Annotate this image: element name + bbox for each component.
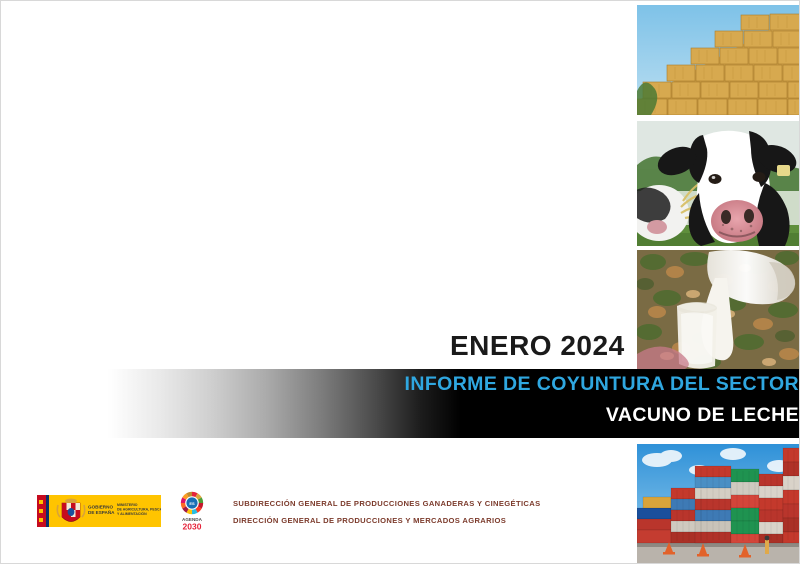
milk-pouring-photo <box>637 250 800 369</box>
report-title-line-1: INFORME DE COYUNTURA DEL SECTOR <box>405 375 799 395</box>
svg-text:MINISTERIO: MINISTERIO <box>117 503 138 507</box>
title-band: INFORME DE COYUNTURA DEL SECTOR VACUNO D… <box>1 369 800 438</box>
document-cover-page: ENERO 2024 INFORME DE COYUNTURA DEL SECT… <box>0 0 800 564</box>
gobierno-de-espana-logo: GOBIERNO DE ESPAÑA MINISTERIO DE AGRICUL… <box>37 495 161 527</box>
report-title-line-2: VACUNO DE LECHE <box>606 406 799 426</box>
svg-text:2030: 2030 <box>183 522 202 532</box>
dairy-cow-photo <box>637 121 800 246</box>
svg-text:GOBIERNO: GOBIERNO <box>88 505 113 510</box>
svg-text:DE AGRICULTURA, PESCA: DE AGRICULTURA, PESCA <box>117 508 161 512</box>
organization-line-1: SUBDIRECCIÓN GENERAL DE PRODUCCIONES GAN… <box>233 500 613 508</box>
svg-text:DE ESPAÑA: DE ESPAÑA <box>88 509 115 515</box>
organization-lines: SUBDIRECCIÓN GENERAL DE PRODUCCIONES GAN… <box>233 500 613 533</box>
organization-line-2: DIRECCIÓN GENERAL DE PRODUCCIONES Y MERC… <box>233 517 613 525</box>
svg-text:ES: ES <box>189 501 195 506</box>
svg-text:Y ALIMENTACIÓN: Y ALIMENTACIÓN <box>117 511 147 516</box>
band-gradient-fade <box>1 369 461 438</box>
agenda-2030-logo: ES AGENDA 2030 <box>173 489 211 533</box>
footer: GOBIERNO DE ESPAÑA MINISTERIO DE AGRICUL… <box>1 471 800 564</box>
issue-date: ENERO 2024 <box>450 332 625 360</box>
hay-bales-photo <box>637 5 800 115</box>
